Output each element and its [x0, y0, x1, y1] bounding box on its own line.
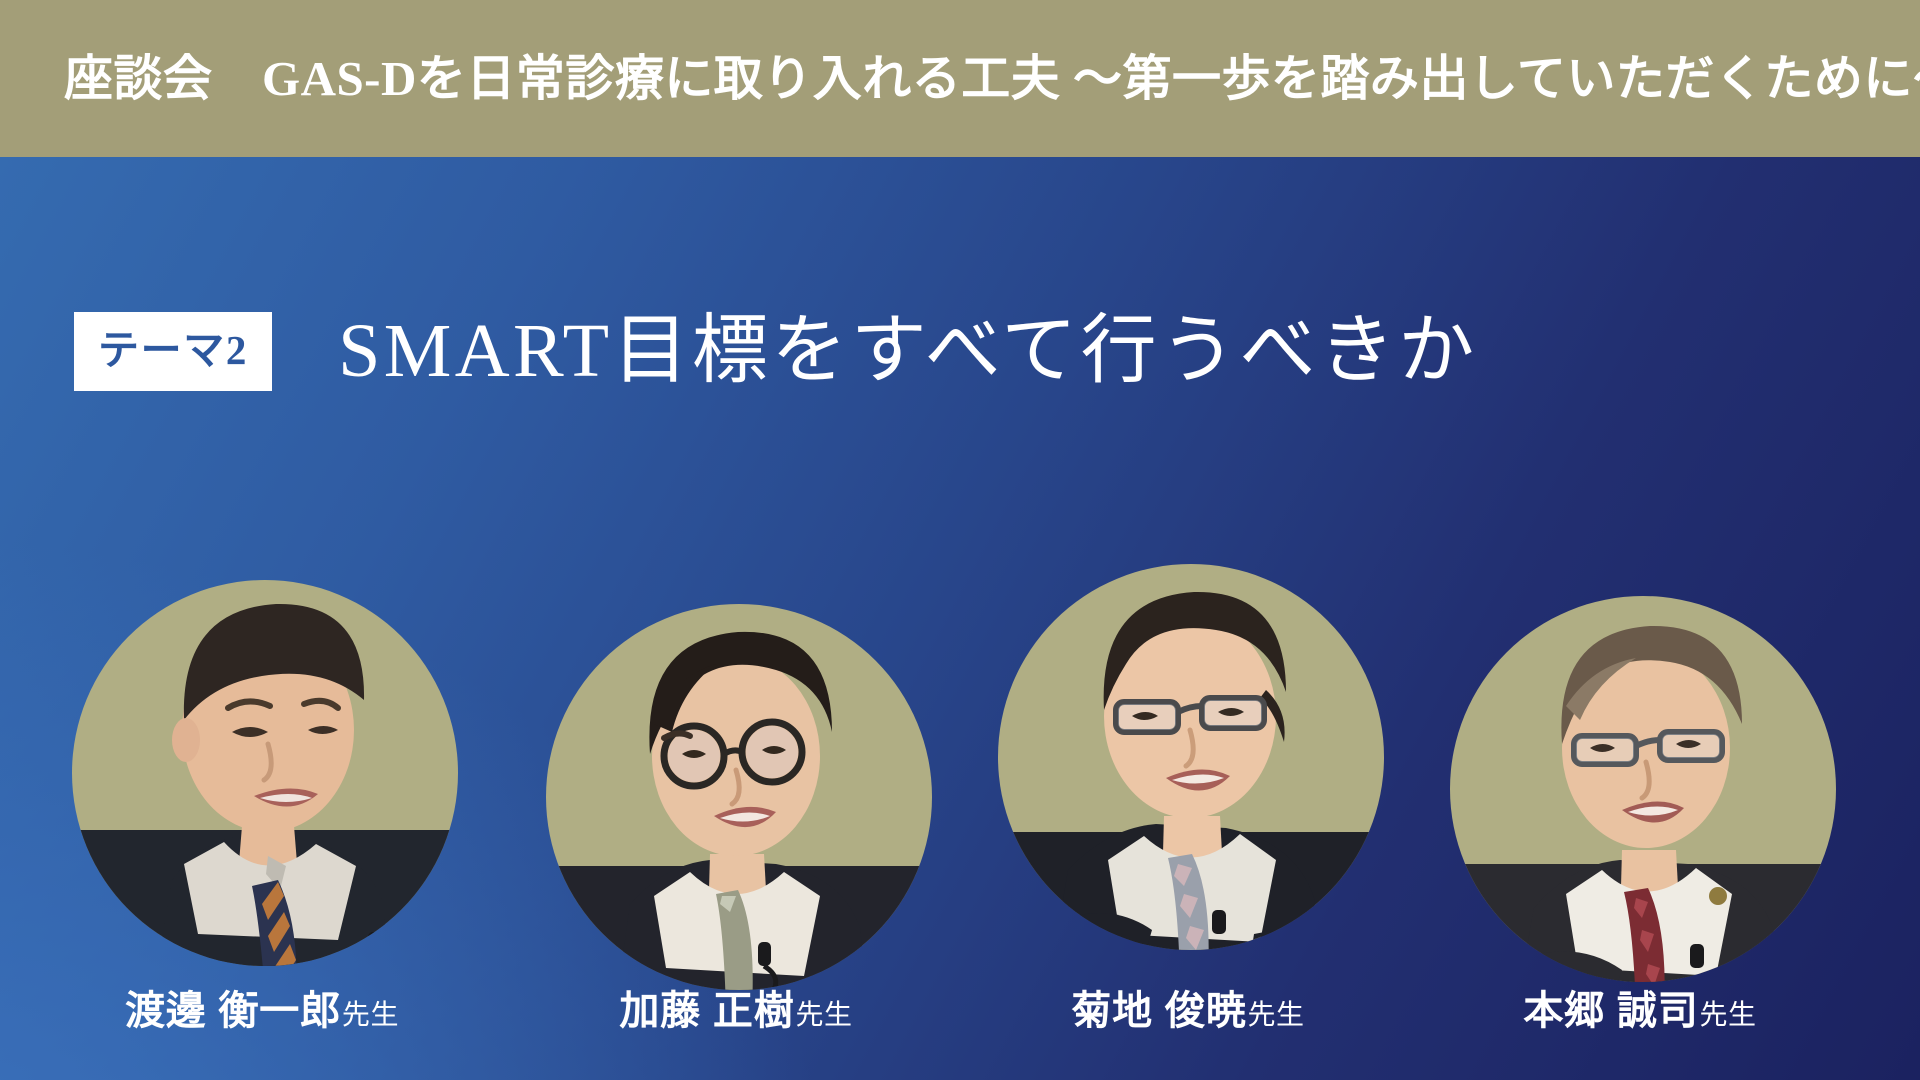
speaker-card: 菊地 俊暁先生 [988, 500, 1388, 1080]
speaker-honorific: 先生 [1700, 999, 1757, 1030]
speaker-name-line: 菊地 俊暁先生 [988, 978, 1388, 1036]
theme-row: テーマ2 SMART目標をすべて行うべきか [0, 296, 1920, 406]
speaker-name-line: 加藤 正樹先生 [536, 978, 936, 1036]
speaker-honorific: 先生 [1248, 999, 1305, 1030]
speaker-name: 菊地 俊暁 [1071, 989, 1246, 1033]
speaker-honorific: 先生 [796, 999, 853, 1030]
speaker-card: 加藤 正樹先生 [536, 500, 936, 1080]
speaker-name-line: 渡邊 衡一郎先生 [62, 978, 462, 1036]
speaker-name: 渡邊 衡一郎 [125, 989, 341, 1033]
speaker-name-line: 本郷 誠司先生 [1440, 978, 1840, 1036]
speaker-photo [998, 500, 1388, 970]
speaker-photo [1450, 500, 1840, 970]
portrait-figure-3 [998, 564, 1384, 1034]
top-banner: 座談会 GAS-Dを日常診療に取り入れる工夫 ～第一歩を踏み出していただくために… [0, 0, 1920, 157]
speaker-photo [72, 500, 462, 970]
speaker-honorific: 先生 [342, 999, 399, 1030]
speaker-panel: 渡邊 衡一郎先生 [0, 500, 1920, 1080]
speaker-card: 渡邊 衡一郎先生 [62, 500, 462, 1080]
speaker-card: 本郷 誠司先生 [1440, 500, 1840, 1080]
banner-title: 座談会 GAS-Dを日常診療に取り入れる工夫 ～第一歩を踏み出していただくために… [64, 54, 1920, 103]
slide-root: 座談会 GAS-Dを日常診療に取り入れる工夫 ～第一歩を踏み出していただくために… [0, 0, 1920, 1080]
speaker-photo [546, 500, 936, 970]
theme-badge: テーマ2 [74, 312, 272, 391]
speaker-name: 加藤 正樹 [619, 989, 794, 1033]
page-title: SMART目標をすべて行うべきか [338, 313, 1478, 389]
speaker-name: 本郷 誠司 [1523, 989, 1698, 1033]
